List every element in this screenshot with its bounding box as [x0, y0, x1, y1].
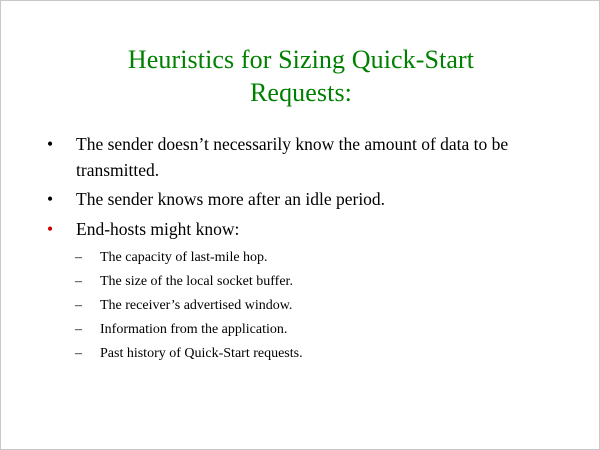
sub-bullet-item-2: – The size of the local socket buffer. [75, 271, 561, 293]
bullet-item-2: • The sender knows more after an idle pe… [41, 187, 561, 213]
sub-bullet-marker-icon: – [75, 295, 89, 317]
slide-canvas: Heuristics for Sizing Quick-Start Reques… [0, 0, 600, 450]
slide-body: • The sender doesn’t necessarily know th… [41, 132, 561, 367]
sub-bullet-marker-icon: – [75, 343, 89, 365]
sub-bullet-marker-icon: – [75, 247, 89, 269]
sub-bullet-item-4: – Information from the application. [75, 319, 561, 341]
bullet-marker-icon: • [47, 132, 59, 158]
sub-bullet-marker-icon: – [75, 271, 89, 293]
sub-bullet-text-1: The capacity of last-mile hop. [100, 250, 268, 265]
sub-bullet-container: – The capacity of last-mile hop. – The s… [41, 247, 561, 365]
bullet-text-1: The sender doesn’t necessarily know the … [76, 134, 508, 180]
slide-title-line-1: Heuristics for Sizing Quick-Start [128, 45, 474, 74]
sub-bullet-text-3: The receiver’s advertised window. [100, 298, 292, 313]
bullet-text-2: The sender knows more after an idle peri… [76, 189, 385, 209]
bullet-list: • The sender doesn’t necessarily know th… [41, 132, 561, 242]
sub-bullet-text-5: Past history of Quick-Start requests. [100, 346, 303, 361]
bullet-marker-icon: • [47, 217, 59, 243]
sub-bullet-text-4: Information from the application. [100, 322, 287, 337]
slide-title: Heuristics for Sizing Quick-Start Reques… [41, 43, 561, 109]
bullet-item-3: • End-hosts might know: [41, 217, 561, 243]
sub-bullet-list: – The capacity of last-mile hop. – The s… [75, 247, 561, 365]
sub-bullet-marker-icon: – [75, 319, 89, 341]
sub-bullet-text-2: The size of the local socket buffer. [100, 274, 293, 289]
slide-title-line-2: Requests: [250, 78, 352, 107]
bullet-item-1: • The sender doesn’t necessarily know th… [41, 132, 561, 183]
bullet-marker-icon: • [47, 187, 59, 213]
sub-bullet-item-3: – The receiver’s advertised window. [75, 295, 561, 317]
bullet-text-3: End-hosts might know: [76, 219, 239, 239]
sub-bullet-item-5: – Past history of Quick-Start requests. [75, 343, 561, 365]
sub-bullet-item-1: – The capacity of last-mile hop. [75, 247, 561, 269]
